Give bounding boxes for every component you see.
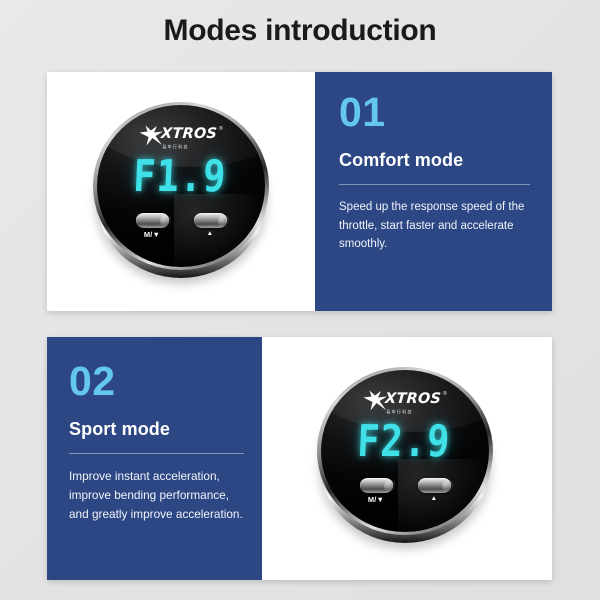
divider: [69, 453, 244, 454]
throttle-controller-device: XTROS 易车行科技 ® F1.9 M/▼ ▲: [93, 102, 269, 278]
device-face: XTROS 易车行科技 ® F2.9 M/▼ ▲: [321, 370, 489, 532]
mode-description: Speed up the response speed of the throt…: [339, 198, 530, 254]
mode-up-button-label: ▲: [207, 231, 214, 238]
page-title: Modes introduction: [0, 14, 600, 48]
brand-subtitle: 易车行科技: [386, 409, 412, 416]
throttle-controller-device: XTROS 易车行科技 ® F2.9 M/▼ ▲: [317, 367, 493, 543]
mode-info-panel: 02 Sport mode Improve instant accelerati…: [47, 337, 262, 580]
trademark-symbol: ®: [219, 126, 223, 132]
device-image-panel: XTROS 易车行科技 ® F2.9 M/▼ ▲: [262, 337, 552, 580]
mode-name: Comfort mode: [339, 150, 530, 171]
mode-down-button-label: M/▼: [144, 231, 160, 239]
brand-logo: XTROS 易车行科技 ®: [321, 391, 489, 415]
device-face: XTROS 易车行科技 ® F1.9 M/▼ ▲: [97, 105, 265, 267]
divider: [339, 184, 530, 185]
mode-description: Improve instant acceleration, improve be…: [69, 467, 244, 524]
brand-logo: XTROS 易车行科技 ®: [97, 126, 265, 150]
button-cap: [360, 478, 393, 493]
brand-subtitle: 易车行科技: [162, 144, 188, 151]
device-display-value: F2.9: [321, 416, 489, 467]
mode-card-sport: 02 Sport mode Improve instant accelerati…: [47, 337, 552, 580]
button-cap: [194, 213, 227, 228]
mode-down-button-label: M/▼: [368, 496, 384, 504]
button-cap: [136, 213, 169, 228]
brand-name: XTROS: [385, 392, 442, 407]
button-cap: [418, 478, 451, 493]
device-image-panel: XTROS 易车行科技 ® F1.9 M/▼ ▲: [47, 72, 315, 311]
mode-down-button[interactable]: M/▼: [360, 478, 393, 504]
mode-card-comfort: XTROS 易车行科技 ® F1.9 M/▼ ▲: [47, 72, 552, 311]
trademark-symbol: ®: [443, 391, 447, 397]
mode-up-button[interactable]: ▲: [194, 213, 227, 239]
brand-name: XTROS: [161, 127, 218, 142]
device-display-value: F1.9: [97, 151, 265, 202]
mode-name: Sport mode: [69, 419, 244, 440]
mode-number: 01: [339, 92, 530, 133]
mode-down-button[interactable]: M/▼: [136, 213, 169, 239]
mode-info-panel: 01 Comfort mode Speed up the response sp…: [315, 72, 552, 311]
device-button-row: M/▼ ▲: [321, 478, 489, 504]
device-button-row: M/▼ ▲: [97, 213, 265, 239]
mode-up-button[interactable]: ▲: [418, 478, 451, 504]
mode-up-button-label: ▲: [431, 496, 438, 503]
mode-number: 02: [69, 361, 244, 402]
